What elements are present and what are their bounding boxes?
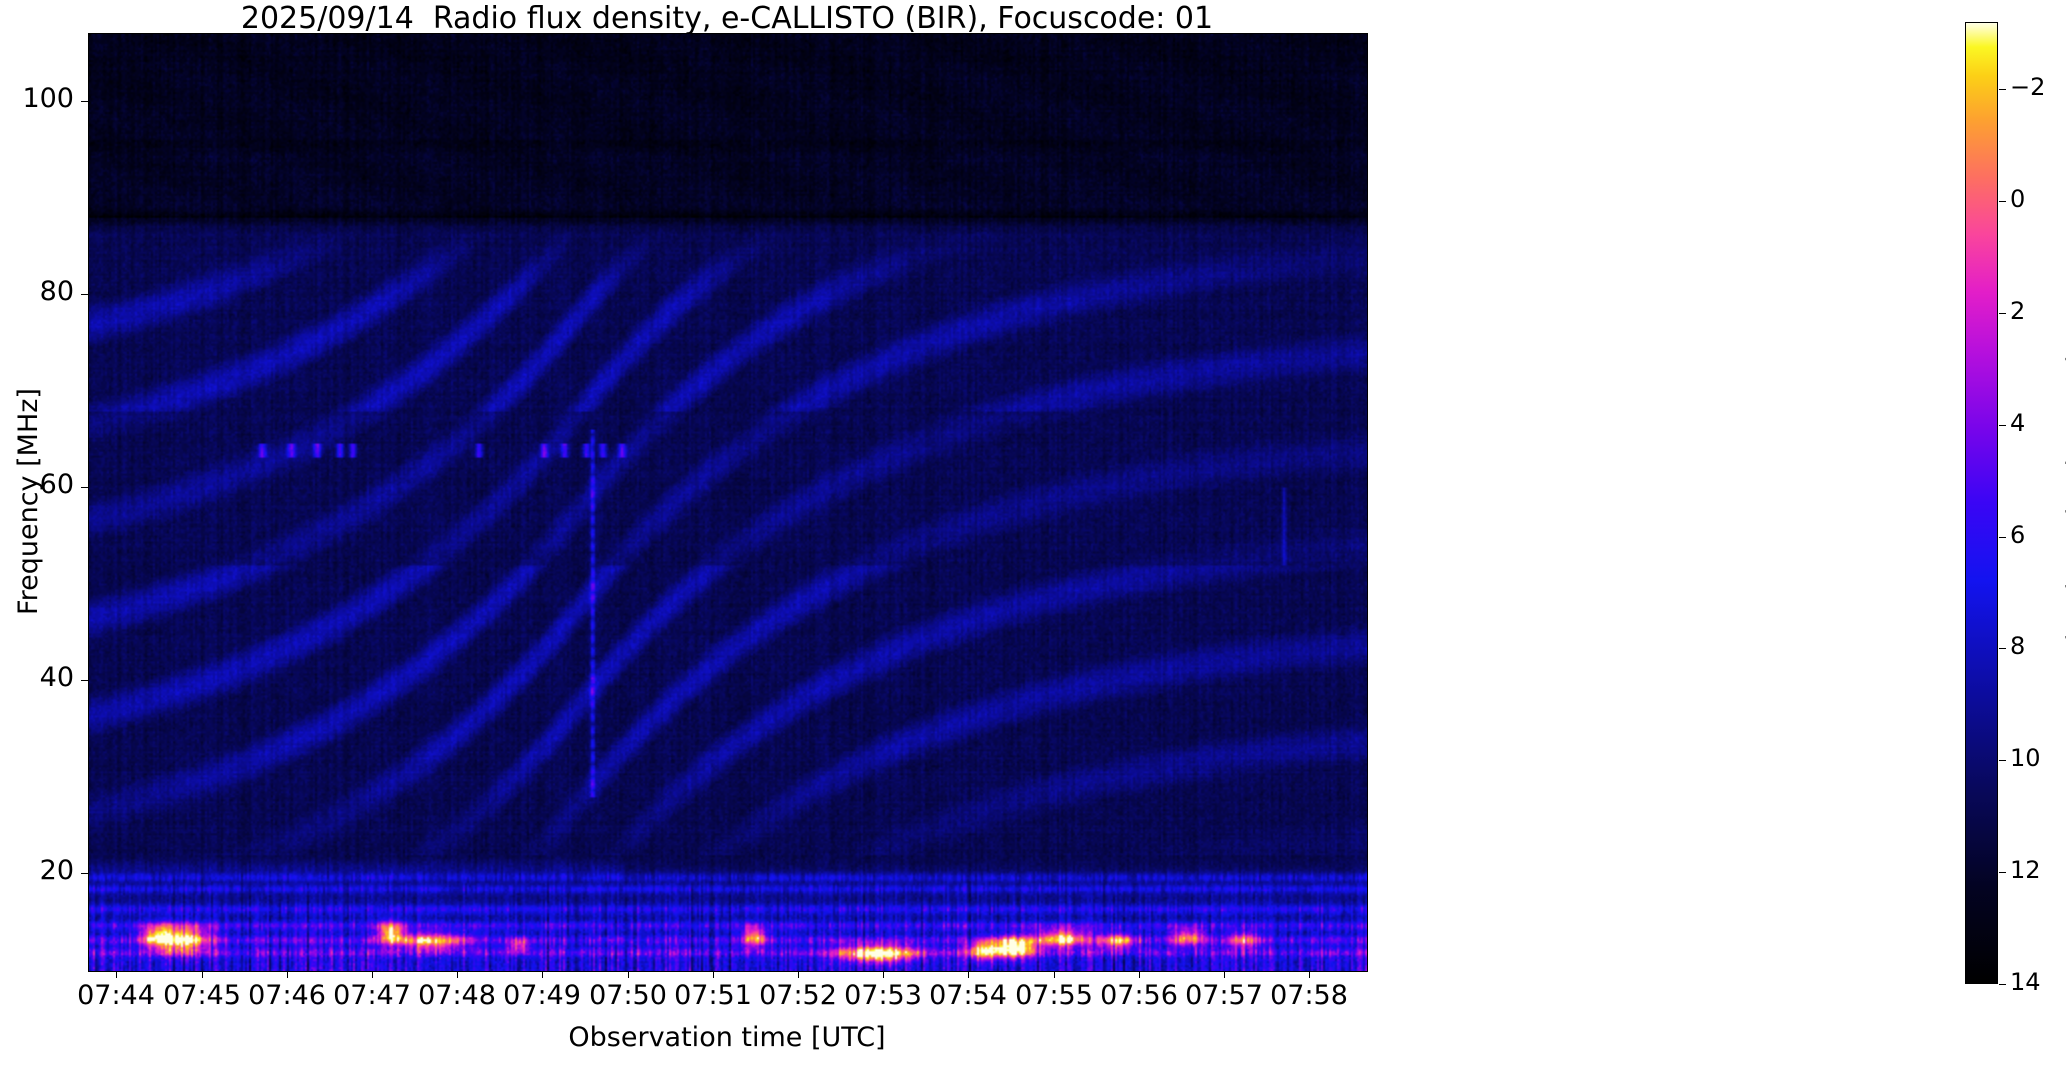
x-axis-label: Observation time [UTC] — [88, 1022, 1366, 1053]
y-tick-mark — [81, 487, 88, 488]
x-tick-mark — [457, 971, 458, 978]
y-tick-mark — [81, 294, 88, 295]
x-tick-mark — [542, 971, 543, 978]
colorbar-label: dB above background — [2062, 22, 2066, 984]
x-tick-mark — [1309, 971, 1310, 978]
x-tick-mark — [116, 971, 117, 978]
colorbar-tick-mark — [1999, 425, 2006, 426]
spectrogram-heatmap[interactable] — [89, 34, 1367, 971]
x-tick-mark — [1139, 971, 1140, 978]
y-tick-label: 40 — [40, 662, 74, 693]
colorbar-tick-mark — [1999, 201, 2006, 202]
y-tick-mark — [81, 101, 88, 102]
colorbar-gradient — [1966, 23, 1997, 983]
y-tick-mark — [81, 680, 88, 681]
colorbar-tick-mark — [1999, 760, 2006, 761]
colorbar-tick-label: 4 — [2010, 409, 2025, 437]
colorbar-tick-label: 6 — [2010, 521, 2025, 549]
y-tick-label: 80 — [40, 276, 74, 307]
colorbar[interactable] — [1965, 22, 1998, 984]
x-tick-label: 07:58 — [1244, 980, 1374, 1011]
y-axis-label: Frequency [MHz] — [14, 33, 44, 970]
x-tick-mark — [628, 971, 629, 978]
x-tick-mark — [883, 971, 884, 978]
x-tick-mark — [1054, 971, 1055, 978]
x-tick-mark — [287, 971, 288, 978]
colorbar-tick-label: 10 — [2010, 744, 2041, 772]
colorbar-tick-label: 14 — [2010, 968, 2041, 996]
x-tick-mark — [713, 971, 714, 978]
x-tick-mark — [968, 971, 969, 978]
colorbar-tick-mark — [1999, 537, 2006, 538]
colorbar-tick-mark — [1999, 313, 2006, 314]
colorbar-tick-label: 2 — [2010, 297, 2025, 325]
colorbar-tick-mark — [1999, 89, 2006, 90]
colorbar-tick-label: 0 — [2010, 185, 2025, 213]
y-tick-label: 60 — [40, 469, 74, 500]
page-title: 2025/09/14 Radio flux density, e-CALLIST… — [88, 2, 1366, 36]
spectrogram-plot-area[interactable] — [88, 33, 1368, 972]
colorbar-tick-label: 12 — [2010, 856, 2041, 884]
colorbar-tick-label: −2 — [2010, 73, 2045, 101]
colorbar-tick-label: 8 — [2010, 632, 2025, 660]
y-tick-label: 100 — [22, 83, 74, 114]
x-tick-mark — [372, 971, 373, 978]
colorbar-tick-mark — [1999, 872, 2006, 873]
y-tick-label: 20 — [40, 855, 74, 886]
x-tick-mark — [798, 971, 799, 978]
colorbar-tick-mark — [1999, 648, 2006, 649]
y-tick-mark — [81, 873, 88, 874]
x-tick-mark — [202, 971, 203, 978]
spectrogram-figure: 2025/09/14 Radio flux density, e-CALLIST… — [0, 0, 2066, 1067]
colorbar-tick-mark — [1999, 984, 2006, 985]
x-tick-mark — [1224, 971, 1225, 978]
